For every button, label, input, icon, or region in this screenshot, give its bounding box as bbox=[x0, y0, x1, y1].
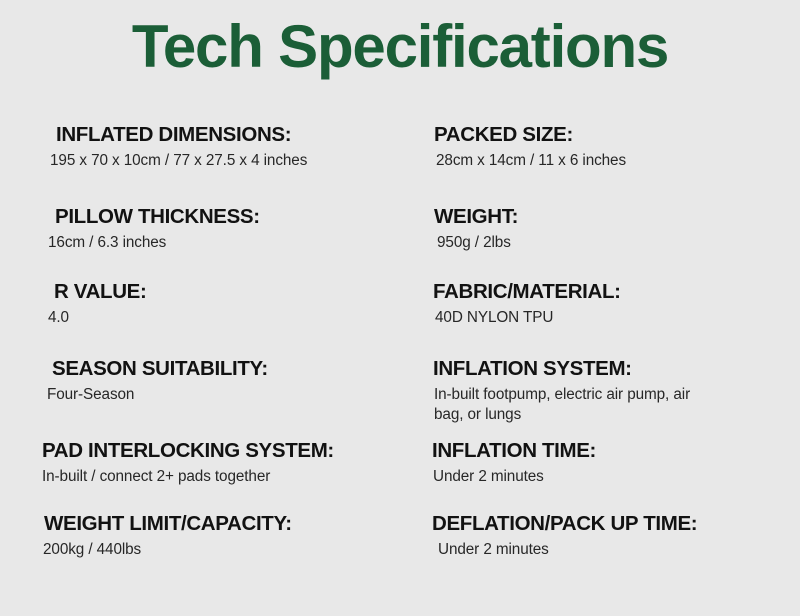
spec-grid: INFLATED DIMENSIONS: 195 x 70 x 10cm / 7… bbox=[0, 118, 800, 608]
spec-row-inflation-system: INFLATION SYSTEM: In-built footpump, ele… bbox=[420, 358, 800, 424]
spec-value: Four-Season bbox=[30, 385, 415, 405]
spec-label: FABRIC/MATERIAL: bbox=[420, 281, 800, 304]
spec-label: WEIGHT: bbox=[420, 206, 800, 229]
spec-value: Under 2 minutes bbox=[420, 467, 800, 487]
spec-value: Under 2 minutes bbox=[420, 540, 800, 560]
spec-column-right: PACKED SIZE: 28cm x 14cm / 11 x 6 inches… bbox=[420, 118, 800, 608]
spec-row-r-value: R VALUE: 4.0 bbox=[30, 281, 415, 328]
page-title: Tech Specifications bbox=[132, 14, 668, 80]
spec-label: INFLATION TIME: bbox=[420, 440, 800, 463]
spec-value: In-built / connect 2+ pads together bbox=[30, 467, 415, 487]
spec-row-season-suitability: SEASON SUITABILITY: Four-Season bbox=[30, 358, 415, 405]
spec-label: INFLATION SYSTEM: bbox=[420, 358, 800, 381]
spec-row-deflation-pack-up-time: DEFLATION/PACK UP TIME: Under 2 minutes bbox=[420, 513, 800, 560]
spec-label: INFLATED DIMENSIONS: bbox=[30, 124, 415, 147]
spec-label: PACKED SIZE: bbox=[420, 124, 800, 147]
spec-label: DEFLATION/PACK UP TIME: bbox=[420, 513, 800, 536]
spec-label: SEASON SUITABILITY: bbox=[30, 358, 415, 381]
spec-row-pillow-thickness: PILLOW THICKNESS: 16cm / 6.3 inches bbox=[30, 206, 415, 253]
spec-column-left: INFLATED DIMENSIONS: 195 x 70 x 10cm / 7… bbox=[30, 118, 415, 608]
page-title-container: Tech Specifications bbox=[0, 14, 800, 80]
spec-value: 16cm / 6.3 inches bbox=[30, 233, 415, 253]
spec-label: PILLOW THICKNESS: bbox=[30, 206, 415, 229]
spec-value: 950g / 2lbs bbox=[420, 233, 800, 253]
spec-row-packed-size: PACKED SIZE: 28cm x 14cm / 11 x 6 inches bbox=[420, 124, 800, 171]
spec-row-inflated-dimensions: INFLATED DIMENSIONS: 195 x 70 x 10cm / 7… bbox=[30, 124, 415, 171]
spec-value: 40D NYLON TPU bbox=[420, 308, 800, 328]
spec-value: 195 x 70 x 10cm / 77 x 27.5 x 4 inches bbox=[30, 151, 415, 171]
spec-row-pad-interlocking-system: PAD INTERLOCKING SYSTEM: In-built / conn… bbox=[30, 440, 415, 487]
tech-specifications-sheet: Tech Specifications INFLATED DIMENSIONS:… bbox=[0, 0, 800, 616]
spec-value: 28cm x 14cm / 11 x 6 inches bbox=[420, 151, 800, 171]
spec-value: 4.0 bbox=[30, 308, 415, 328]
spec-label: PAD INTERLOCKING SYSTEM: bbox=[30, 440, 415, 463]
spec-row-weight-limit-capacity: WEIGHT LIMIT/CAPACITY: 200kg / 440lbs bbox=[30, 513, 415, 560]
spec-label: WEIGHT LIMIT/CAPACITY: bbox=[30, 513, 415, 536]
spec-row-inflation-time: INFLATION TIME: Under 2 minutes bbox=[420, 440, 800, 487]
spec-row-weight: WEIGHT: 950g / 2lbs bbox=[420, 206, 800, 253]
spec-label: R VALUE: bbox=[30, 281, 415, 304]
spec-value: In-built footpump, electric air pump, ai… bbox=[420, 385, 704, 424]
spec-row-fabric-material: FABRIC/MATERIAL: 40D NYLON TPU bbox=[420, 281, 800, 328]
spec-value: 200kg / 440lbs bbox=[30, 540, 415, 560]
